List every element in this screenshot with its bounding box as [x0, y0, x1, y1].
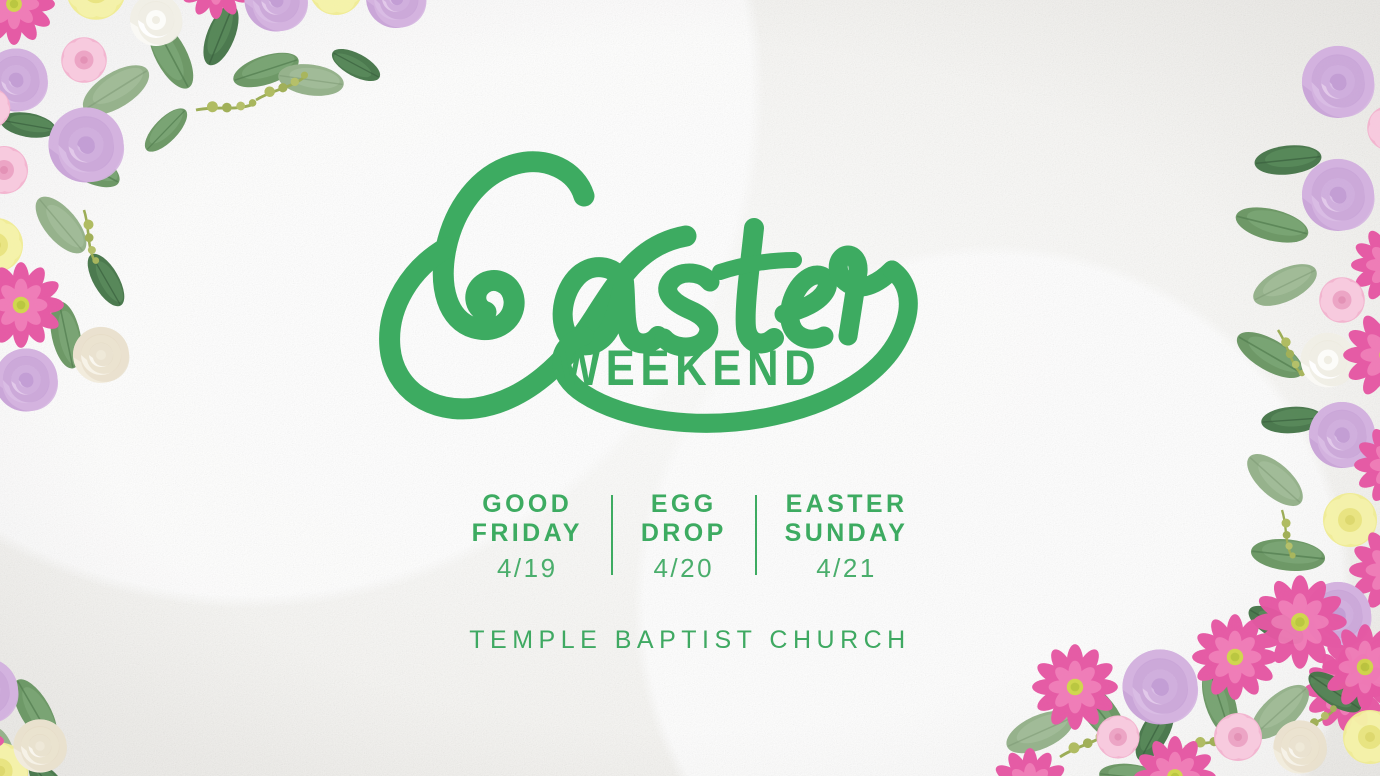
event-title: EASTER SUNDAY [785, 490, 909, 548]
event-date: 4/19 [497, 553, 558, 584]
church-name: TEMPLE BAPTIST CHURCH [469, 626, 910, 655]
event-title-line2: FRIDAY [472, 519, 583, 548]
event-title: GOOD FRIDAY [472, 490, 583, 548]
event-title-line1: EASTER [785, 490, 909, 519]
weekend-subtitle: WEEKEND [549, 340, 831, 395]
event-date: 4/20 [653, 553, 714, 584]
event-title-line2: DROP [641, 519, 727, 548]
easter-script-logo: WEEKEND [370, 132, 1010, 432]
events-row: GOOD FRIDAY 4/19 EGG DROP 4/20 EASTER SU… [444, 490, 937, 584]
event-title-line2: SUNDAY [785, 519, 909, 548]
event-title: EGG DROP [641, 490, 727, 548]
event-title-line1: GOOD [472, 490, 583, 519]
event-good-friday: GOOD FRIDAY 4/19 [444, 490, 611, 584]
center-content: WEEKEND GOOD FRIDAY 4/19 EGG DROP 4/20 [0, 0, 1380, 776]
event-easter-sunday: EASTER SUNDAY 4/21 [757, 490, 937, 584]
easter-weekend-graphic: WEEKEND GOOD FRIDAY 4/19 EGG DROP 4/20 [0, 0, 1380, 776]
event-egg-drop: EGG DROP 4/20 [613, 490, 755, 584]
event-title-line1: EGG [641, 490, 727, 519]
event-date: 4/21 [816, 553, 877, 584]
